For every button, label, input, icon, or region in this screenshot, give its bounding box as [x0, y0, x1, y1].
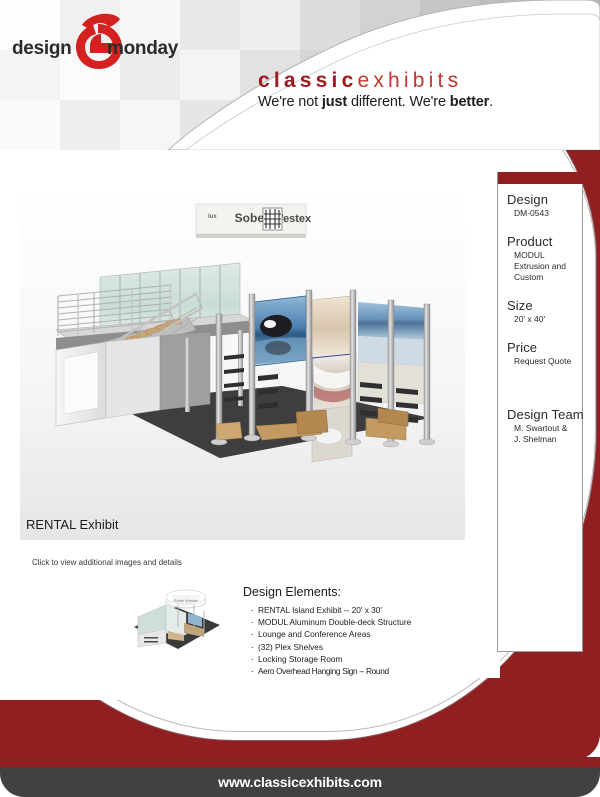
- design-elements-thumbnail[interactable]: Sobel Westex: [128, 587, 226, 659]
- design-element-item: RENTAL Island Exhibit -- 20' x 30': [251, 604, 493, 616]
- design-elements-title: Design Elements:: [243, 585, 493, 599]
- spec-label: Design: [498, 192, 584, 208]
- spec-group-price: PriceRequest Quote: [498, 340, 584, 367]
- thumbnail-rendering: Sobel Westex: [128, 587, 226, 659]
- spec-value: M. Swartout &: [498, 423, 584, 434]
- main-exhibit-image[interactable]: Sobel Westex lux: [20, 190, 465, 540]
- tagline-end: .: [489, 94, 493, 110]
- tagline-bold-better: better: [450, 94, 489, 110]
- spec-value: DM-0543: [498, 208, 584, 219]
- classic-exhibits-logo[interactable]: classicexhibits We're not just different…: [258, 68, 528, 110]
- brand-name-classic: classic: [258, 69, 357, 92]
- design-elements-list: RENTAL Island Exhibit -- 20' x 30'MODUL …: [243, 604, 493, 677]
- design-element-item: Locking Storage Room: [251, 653, 493, 665]
- spec-label: Price: [498, 340, 584, 356]
- brand-name: classicexhibits: [258, 68, 528, 93]
- spec-group-design: DesignDM-0543: [498, 192, 584, 219]
- tagline-mid: different. We're: [347, 94, 450, 110]
- hanging-sign: Sobel Westex lux: [196, 204, 312, 238]
- spec-group-design-team: Design TeamM. Swartout &J. Shelman: [498, 407, 584, 445]
- logo-word-monday: monday: [107, 38, 178, 60]
- svg-text:Sobel Westex: Sobel Westex: [174, 598, 199, 603]
- spec-group-size: Size20' x 40': [498, 298, 584, 325]
- spec-panel: DesignDM-0543ProductMODULExtrusion andCu…: [497, 172, 583, 652]
- click-to-view-note[interactable]: Click to view additional images and deta…: [32, 558, 182, 567]
- footer-url[interactable]: www.classicexhibits.com: [218, 774, 382, 790]
- tagline-pre: We're not: [258, 94, 322, 110]
- design-element-item: Lounge and Conference Areas: [251, 628, 493, 640]
- spec-value: Request Quote: [498, 356, 584, 367]
- spec-group-product: ProductMODULExtrusion andCustom: [498, 234, 584, 283]
- design-element-item: Aero Overhead Hanging Sign -- Round: [251, 665, 493, 677]
- footer-bar: www.classicexhibits.com: [0, 767, 600, 797]
- page-root: design monday classicexhibits We're not …: [0, 0, 600, 797]
- spec-panel-body: DesignDM-0543ProductMODULExtrusion andCu…: [498, 192, 584, 460]
- exhibit-rendering: Sobel Westex lux: [20, 190, 465, 540]
- design-elements-block: Design Elements: RENTAL Island Exhibit -…: [243, 585, 493, 677]
- brand-tagline: We're not just different. We're better.: [258, 94, 528, 110]
- logo-word-design: design: [12, 38, 71, 60]
- spec-value: J. Shelman: [498, 434, 584, 445]
- svg-text:lux: lux: [208, 214, 217, 220]
- spec-value: Extrusion and: [498, 261, 584, 272]
- spec-value: MODUL: [498, 250, 584, 261]
- svg-text:Sobel: Sobel: [235, 211, 268, 225]
- spec-label: Size: [498, 298, 584, 314]
- exhibit-caption: RENTAL Exhibit: [26, 517, 118, 532]
- brand-name-exhibits: exhibits: [357, 69, 462, 92]
- tagline-bold-just: just: [322, 94, 347, 110]
- spec-value: Custom: [498, 272, 584, 283]
- spec-label: Product: [498, 234, 584, 250]
- design-monday-logo[interactable]: design monday: [12, 22, 192, 72]
- footer-accent-strip: [0, 757, 600, 767]
- spec-value: 20' x 40': [498, 314, 584, 325]
- spec-label: Design Team: [498, 407, 584, 423]
- design-element-item: (32) Plex Shelves: [251, 641, 493, 653]
- design-element-item: MODUL Aluminum Double-deck Structure: [251, 616, 493, 628]
- spec-panel-accent-bar: [498, 172, 584, 184]
